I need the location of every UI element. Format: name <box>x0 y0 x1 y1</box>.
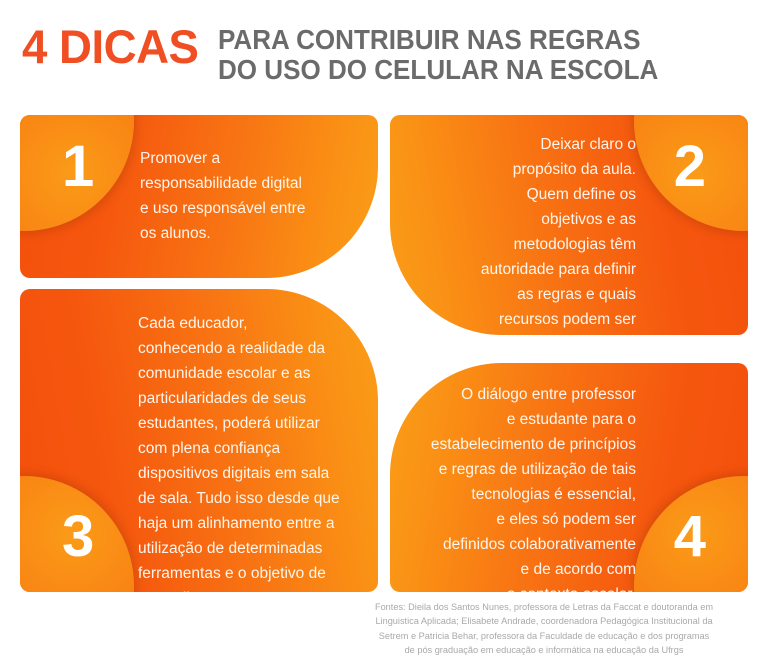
tip-number-3: 3 <box>62 508 94 566</box>
tip-text-4: O diálogo entre professor e estudante pa… <box>404 382 636 592</box>
tip-number-1: 1 <box>62 138 94 196</box>
tip-text-2: Deixar claro o propósito da aula. Quem d… <box>406 132 636 335</box>
tip-card-3: 3 Cada educador, conhecendo a realidade … <box>20 289 378 592</box>
tip-text-1: Promover a responsabilidade digital e us… <box>140 146 364 246</box>
tip-card-4: 4 O diálogo entre professor e estudante … <box>390 363 748 592</box>
tip-number-4: 4 <box>674 508 706 566</box>
tip-card-2: 2 Deixar claro o propósito da aula. Quem… <box>390 115 748 335</box>
sources-footer: Fontes: Dieila dos Santos Nunes, profess… <box>330 600 758 657</box>
tip-card-1: 1 Promover a responsabilidade digital e … <box>20 115 378 278</box>
tip-number-2: 2 <box>674 138 706 196</box>
tip-text-3: Cada educador, conhecendo a realidade da… <box>138 311 370 592</box>
tips-grid: 1 Promover a responsabilidade digital e … <box>0 0 768 667</box>
